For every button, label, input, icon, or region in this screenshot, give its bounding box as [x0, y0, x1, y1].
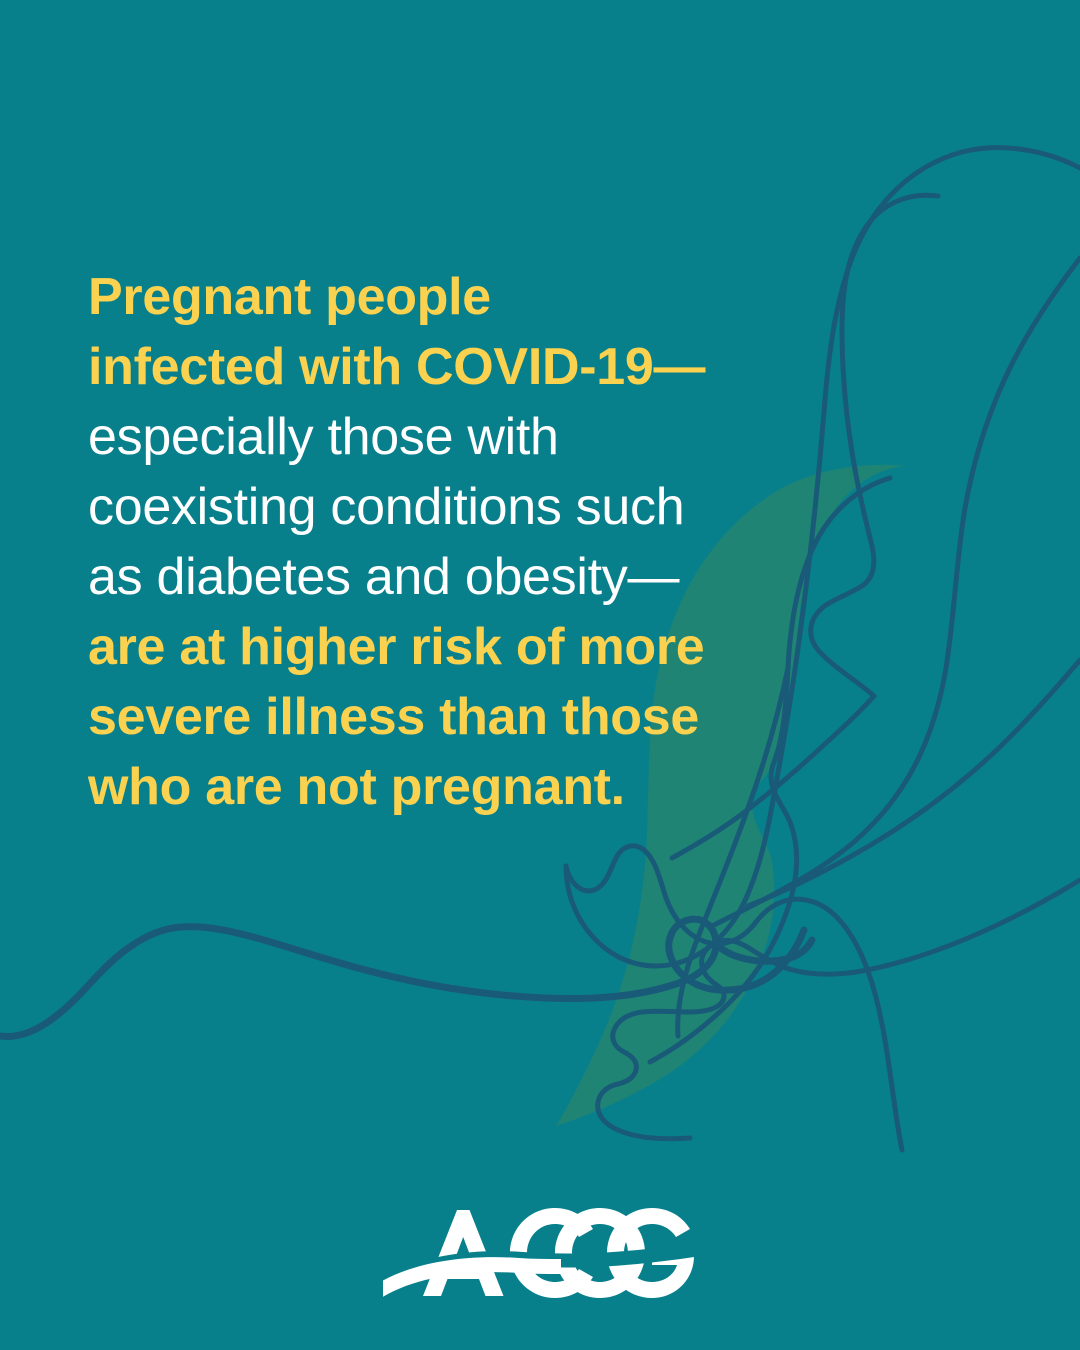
logo-letter-g [607, 1208, 694, 1298]
message-line-8: who are not pregnant. [88, 752, 788, 822]
logo-letter-a [423, 1210, 504, 1296]
back-contour-line [748, 660, 1080, 906]
message-line-6: are at higher risk of more [88, 612, 788, 682]
acog-logo [383, 1206, 695, 1298]
arm-outer-line [756, 899, 902, 1150]
message-line-7: severe illness than those [88, 682, 788, 752]
headline-message: Pregnant people infected with COVID-19— … [88, 262, 788, 822]
message-line-4: coexisting conditions such [88, 472, 788, 542]
message-line-2: infected with COVID-19— [88, 332, 788, 402]
face-profile [811, 195, 938, 696]
message-line-1: Pregnant people [88, 262, 788, 332]
message-line-3: especially those with [88, 402, 788, 472]
message-line-5: as diabetes and obesity— [88, 542, 788, 612]
shoulder-line [566, 846, 756, 944]
ribbon-loop-accent [716, 940, 812, 961]
hand-on-belly-line [598, 880, 1080, 1139]
poster-canvas: Pregnant people infected with COVID-19— … [0, 0, 1080, 1350]
flowing-ribbon-line [0, 919, 804, 1036]
acog-logo-mark [383, 1206, 695, 1298]
